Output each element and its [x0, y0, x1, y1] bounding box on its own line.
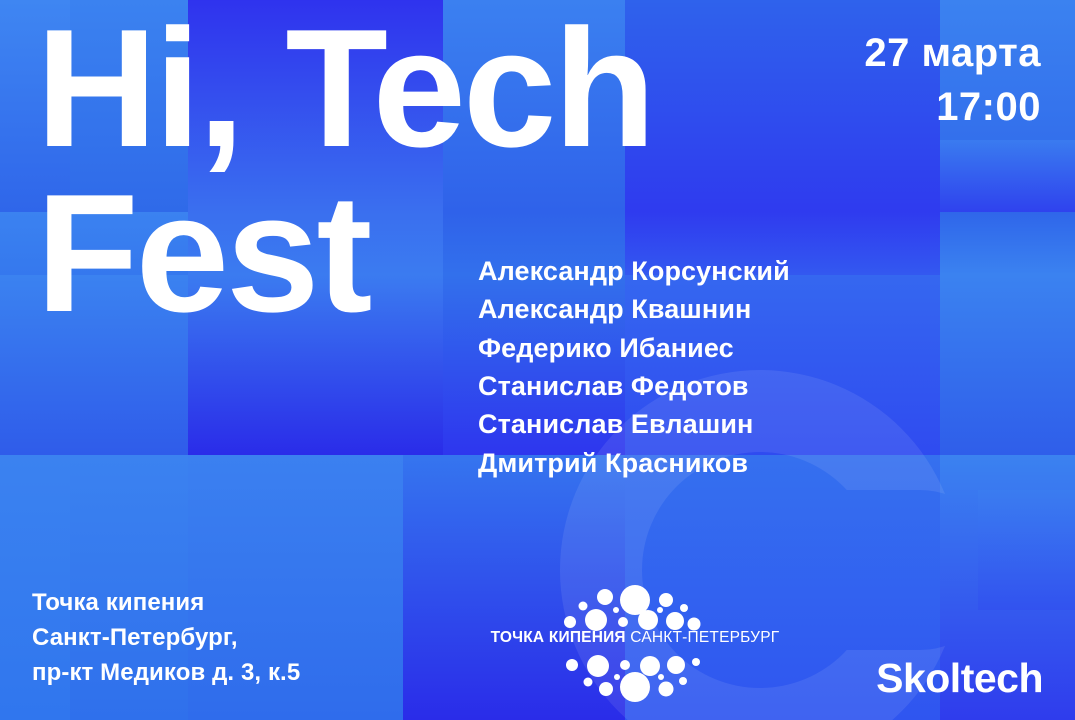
- brand-logo: Skoltech: [876, 655, 1043, 702]
- list-item: Александр Квашнин: [478, 290, 790, 328]
- event-date: 27 марта: [864, 26, 1041, 80]
- venue-address: Точка кипения Санкт-Петербург, пр-кт Мед…: [32, 586, 300, 690]
- partner-logo-text: ТОЧКА КИПЕНИЯ САНКТ-ПЕТЕРБУРГ: [470, 629, 800, 647]
- list-item: Федерико Ибаниес: [478, 329, 790, 367]
- venue-name: Точка кипения: [32, 586, 300, 621]
- partner-logo: ТОЧКА КИПЕНИЯ САНКТ-ПЕТЕРБУРГ: [470, 583, 800, 708]
- partner-name-bold: ТОЧКА КИПЕНИЯ: [491, 629, 626, 646]
- list-item: Александр Корсунский: [478, 252, 790, 290]
- event-time: 17:00: [864, 80, 1041, 134]
- bg-block: [940, 212, 1075, 275]
- list-item: Станислав Евлашин: [478, 405, 790, 443]
- partner-name-light: САНКТ-ПЕТЕРБУРГ: [630, 629, 779, 646]
- bg-block-accent: [940, 140, 1075, 212]
- event-poster: Hi, Tech Fest 27 марта 17:00 Александр К…: [0, 0, 1075, 720]
- list-item: Дмитрий Красников: [478, 444, 790, 482]
- speaker-list: Александр Корсунский Александр Квашнин Ф…: [478, 252, 790, 482]
- venue-street: пр-кт Медиков д. 3, к.5: [32, 656, 300, 691]
- event-datetime: 27 марта 17:00: [864, 26, 1041, 134]
- venue-city: Санкт-Петербург,: [32, 621, 300, 656]
- list-item: Станислав Федотов: [478, 367, 790, 405]
